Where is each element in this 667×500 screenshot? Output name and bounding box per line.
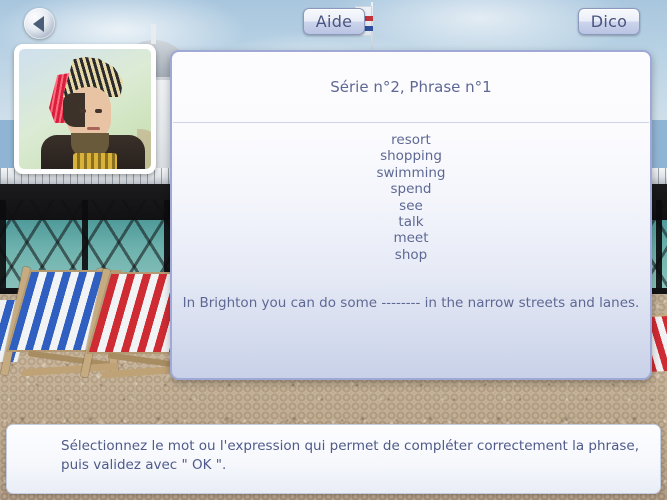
word-option[interactable]: talk bbox=[390, 214, 431, 230]
word-option[interactable]: shop bbox=[387, 247, 435, 263]
back-button[interactable] bbox=[24, 8, 55, 39]
instructions-panel: Sélectionnez le mot ou l'expression qui … bbox=[6, 424, 661, 494]
punk-portrait-image bbox=[19, 49, 151, 169]
eye-left bbox=[79, 109, 86, 113]
left-triangle-icon bbox=[33, 16, 44, 32]
word-option[interactable]: spend bbox=[382, 181, 439, 197]
word-option[interactable]: shopping bbox=[372, 148, 450, 164]
help-button[interactable]: Aide bbox=[303, 8, 365, 35]
word-option[interactable]: resort bbox=[383, 132, 439, 148]
mouth bbox=[87, 127, 100, 130]
word-choice-list: resort shopping swimming spend see talk … bbox=[172, 132, 650, 263]
exercise-panel: Série n°2, Phrase n°1 resort shopping sw… bbox=[170, 50, 652, 380]
character-photo-card[interactable] bbox=[14, 44, 156, 174]
instruction-line-1: Sélectionnez le mot ou l'expression qui … bbox=[61, 437, 660, 456]
panel-divider bbox=[173, 122, 649, 123]
panel-title: Série n°2, Phrase n°1 bbox=[172, 52, 650, 122]
app-root: Aide Dico Série n°2, Phrase n°1 resort s… bbox=[0, 0, 667, 500]
word-option[interactable]: swimming bbox=[368, 165, 453, 181]
instruction-line-2: puis validez avec " OK ". bbox=[61, 456, 660, 475]
word-option[interactable]: see bbox=[391, 198, 431, 214]
eye-right bbox=[95, 109, 102, 113]
studded-belt bbox=[73, 153, 117, 169]
word-option[interactable]: meet bbox=[385, 230, 436, 246]
dictionary-button[interactable]: Dico bbox=[578, 8, 640, 35]
exercise-sentence: In Brighton you can do some -------- in … bbox=[172, 295, 650, 311]
